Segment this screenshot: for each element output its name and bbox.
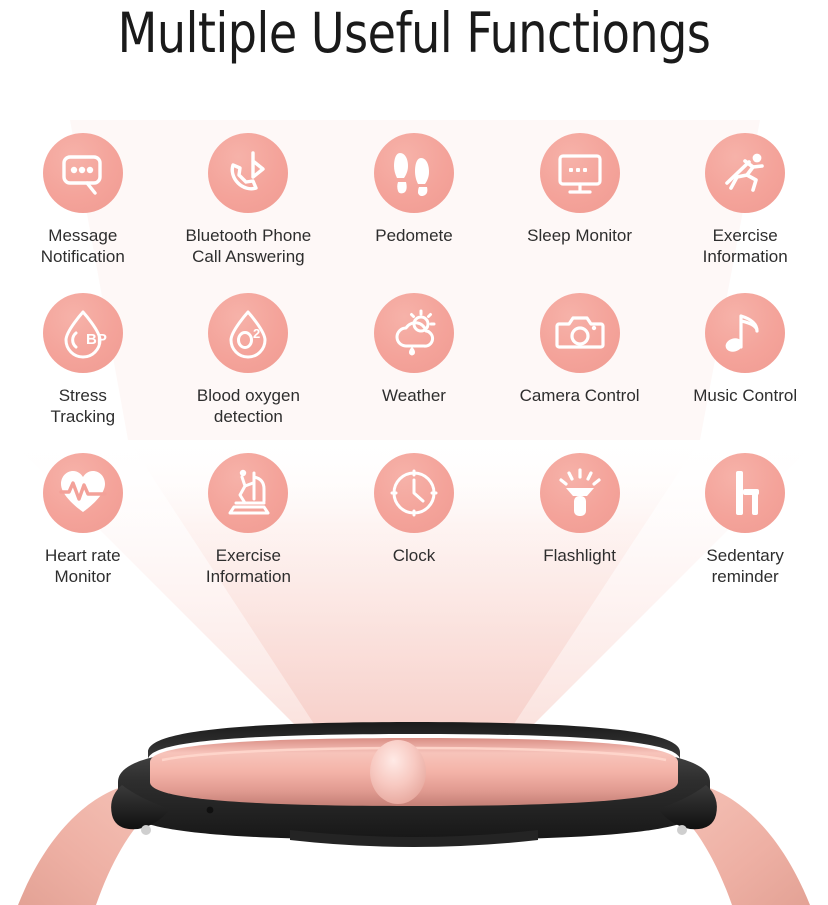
- feature-item-sleep-monitor[interactable]: Sleep Monitor: [497, 133, 663, 293]
- product-feature-page: Multiple Useful Functiongs Mess: [0, 0, 828, 905]
- feature-item-exercise-information-top[interactable]: Exercise Information: [662, 133, 828, 293]
- heart-pulse-icon: [43, 453, 123, 533]
- watch-lug-pin-right: [677, 825, 687, 835]
- music-note-icon: [705, 293, 785, 373]
- watch-lug-pin-left: [141, 825, 151, 835]
- feature-item-flashlight[interactable]: Flashlight: [497, 453, 663, 613]
- feature-item-music-control[interactable]: Music Control: [662, 293, 828, 453]
- feature-label: Message Notification: [41, 225, 125, 267]
- treadmill-icon: [208, 453, 288, 533]
- feature-item-exercise-information-bottom[interactable]: Exercise Information: [166, 453, 332, 613]
- feature-item-weather[interactable]: Weather: [331, 293, 497, 453]
- feature-item-blood-oxygen-detection[interactable]: 2 Blood oxygen detection: [166, 293, 332, 453]
- feature-label: Exercise Information: [206, 545, 291, 587]
- bp-glyph-text: BP: [86, 331, 107, 348]
- smartwatch-product-image: [0, 690, 828, 905]
- feature-item-sedentary-reminder[interactable]: Sedentary reminder: [662, 453, 828, 613]
- feature-label: Blood oxygen detection: [197, 385, 300, 427]
- feature-label: Heart rate Monitor: [45, 545, 121, 587]
- feature-item-bluetooth-phone-call-answering[interactable]: Bluetooth Phone Call Answering: [166, 133, 332, 293]
- sun-cloud-rain-icon: [374, 293, 454, 373]
- clock-icon: [374, 453, 454, 533]
- feature-label: Sleep Monitor: [527, 225, 632, 246]
- feature-row: Message Notification Bluetooth Phone Cal…: [0, 133, 828, 293]
- camera-icon: [540, 293, 620, 373]
- chair-person-icon: [705, 453, 785, 533]
- feature-label: Sedentary reminder: [706, 545, 784, 587]
- feature-item-stress-tracking[interactable]: BP Stress Tracking: [0, 293, 166, 453]
- footprints-icon: [374, 133, 454, 213]
- watch-crown-button: [370, 740, 426, 804]
- feature-item-clock[interactable]: Clock: [331, 453, 497, 613]
- watch-microphone-hole: [207, 807, 214, 814]
- feature-label: Stress Tracking: [51, 385, 116, 427]
- feature-row: BP Stress Tracking 2 Blood oxygen detect…: [0, 293, 828, 453]
- feature-item-heart-rate-monitor[interactable]: Heart rate Monitor: [0, 453, 166, 613]
- feature-label: Bluetooth Phone Call Answering: [186, 225, 312, 267]
- bluetooth-phone-icon: [208, 133, 288, 213]
- feature-label: Flashlight: [543, 545, 616, 566]
- feature-label: Music Control: [693, 385, 797, 406]
- feature-item-pedometer[interactable]: Pedomete: [331, 133, 497, 293]
- running-person-icon: [705, 133, 785, 213]
- message-bubble-icon: [43, 133, 123, 213]
- feature-row: Heart rate Monitor: [0, 453, 828, 613]
- page-title: Multiple Useful Functiongs: [29, 0, 799, 64]
- svg-text:2: 2: [253, 326, 260, 341]
- feature-label: Pedomete: [375, 225, 453, 246]
- feature-label: Clock: [393, 545, 436, 566]
- feature-grid: Message Notification Bluetooth Phone Cal…: [0, 133, 828, 613]
- flashlight-icon: [540, 453, 620, 533]
- monitor-screen-icon: [540, 133, 620, 213]
- feature-item-camera-control[interactable]: Camera Control: [497, 293, 663, 453]
- blood-drop-o2-icon: 2: [208, 293, 288, 373]
- feature-label: Exercise Information: [703, 225, 788, 267]
- feature-label: Camera Control: [520, 385, 640, 406]
- feature-label: Weather: [382, 385, 446, 406]
- feature-item-message-notification[interactable]: Message Notification: [0, 133, 166, 293]
- blood-drop-bp-icon: BP: [43, 293, 123, 373]
